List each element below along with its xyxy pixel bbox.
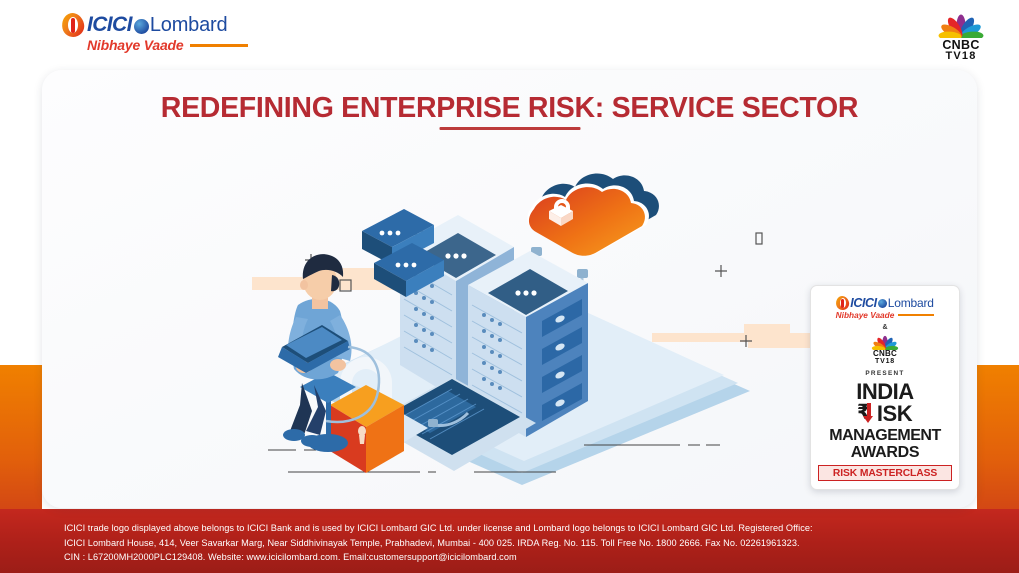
badge-cnbc-text: CNBC xyxy=(818,350,952,358)
icici-swirl-icon xyxy=(62,13,84,37)
slide-canvas: ICICI Lombard Nibhaye Vaade CNBC TV18 R xyxy=(0,0,1019,573)
badge-ampersand: & xyxy=(818,324,952,331)
badge-icici-text: ICICI xyxy=(850,296,876,310)
content-card: REDEFINING ENTERPRISE RISK: SERVICE SECT… xyxy=(42,70,977,508)
badge-india-text: INDIA xyxy=(818,381,952,403)
badge-lombard-text: Lombard xyxy=(888,296,934,310)
badge-tagline-rule xyxy=(898,314,934,316)
badge-isk-text: ISK xyxy=(877,402,912,425)
footer-disclaimer: ICICI trade logo displayed above belongs… xyxy=(64,521,979,565)
footer-line-3: CIN : L67200MH2000PLC129408. Website: ww… xyxy=(64,550,979,565)
title-underline xyxy=(439,127,580,130)
footer-line-1: ICICI trade logo displayed above belongs… xyxy=(64,521,979,536)
award-badge: ICICI Lombard Nibhaye Vaade & xyxy=(810,285,960,490)
badge-icici-lombard-logo: ICICI Lombard xyxy=(818,295,952,310)
logo-underline xyxy=(190,44,248,47)
rupee-arrow-icon: ₹ xyxy=(858,402,877,425)
illustration-svg xyxy=(252,155,812,495)
badge-management-text: MANAGEMENT xyxy=(818,427,952,444)
badge-present-text: PRESENT xyxy=(818,370,952,377)
footer-line-2: ICICI Lombard House, 414, Veer Savarkar … xyxy=(64,536,979,551)
peacock-icon xyxy=(932,10,990,38)
logo-icici-text: ICICI xyxy=(87,13,132,37)
cnbc-tv18-logo: CNBC TV18 xyxy=(925,10,997,62)
badge-risk-row: ₹ ISK xyxy=(818,402,952,425)
badge-globe-icon xyxy=(878,299,887,308)
badge-peacock-icon xyxy=(868,333,902,350)
badge-awards-text: AWARDS xyxy=(818,444,952,461)
logo-lombard-text: Lombard xyxy=(150,14,228,37)
icici-lombard-logo: ICICI Lombard Nibhaye Vaade xyxy=(62,12,272,60)
badge-masterclass-banner: RISK MASTERCLASS xyxy=(818,465,952,481)
globe-icon xyxy=(134,19,149,34)
page-title: REDEFINING ENTERPRISE RISK: SERVICE SECT… xyxy=(42,92,977,125)
logo-tagline: Nibhaye Vaade xyxy=(87,37,183,53)
badge-tv18-text: TV18 xyxy=(818,358,952,366)
tv18-wordmark: TV18 xyxy=(925,51,997,62)
badge-swirl-icon xyxy=(836,296,849,310)
isometric-illustration xyxy=(252,155,812,495)
badge-tagline: Nibhaye Vaade xyxy=(836,310,895,320)
